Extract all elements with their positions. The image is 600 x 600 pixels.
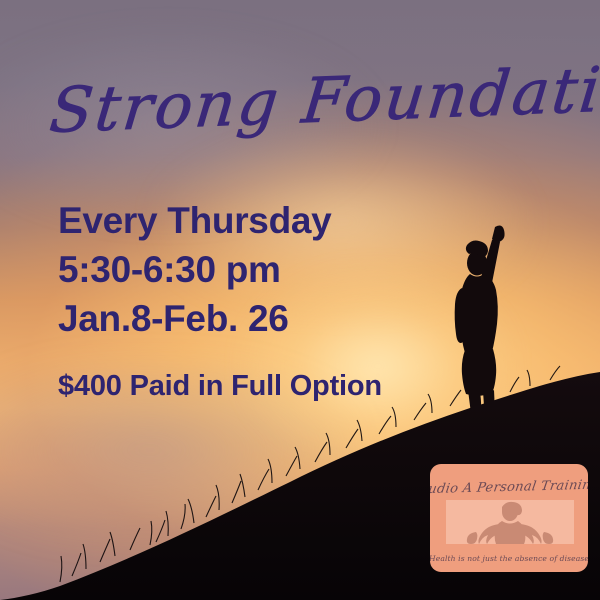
logo-tagline: ~ Health is not just the absence of dise… — [430, 551, 588, 564]
price-option-text: $400 Paid in Full Option — [58, 370, 382, 403]
page-title: Strong Foundations — [58, 62, 558, 157]
schedule-block: Every Thursday 5:30-6:30 pm Jan.8-Feb. 2… — [58, 196, 331, 343]
logo-badge[interactable]: Studio A Personal Training — [430, 464, 588, 572]
schedule-line-dates: Jan.8-Feb. 26 — [58, 294, 331, 343]
flexing-arms-icon — [446, 500, 574, 544]
schedule-line-day: Every Thursday — [58, 196, 331, 245]
promo-poster: Strong Foundations Every Thursday 5:30-6… — [0, 0, 600, 600]
title-text: Strong Foundations — [47, 49, 600, 147]
schedule-line-time: 5:30-6:30 pm — [58, 245, 331, 294]
logo-brand-name: Studio A Personal Training — [430, 474, 588, 498]
logo-tagline-text: ~ Health is not just the absence of dise… — [430, 554, 588, 563]
logo-art-strip — [446, 500, 574, 544]
logo-brand-text: Studio A Personal Training — [430, 478, 588, 498]
